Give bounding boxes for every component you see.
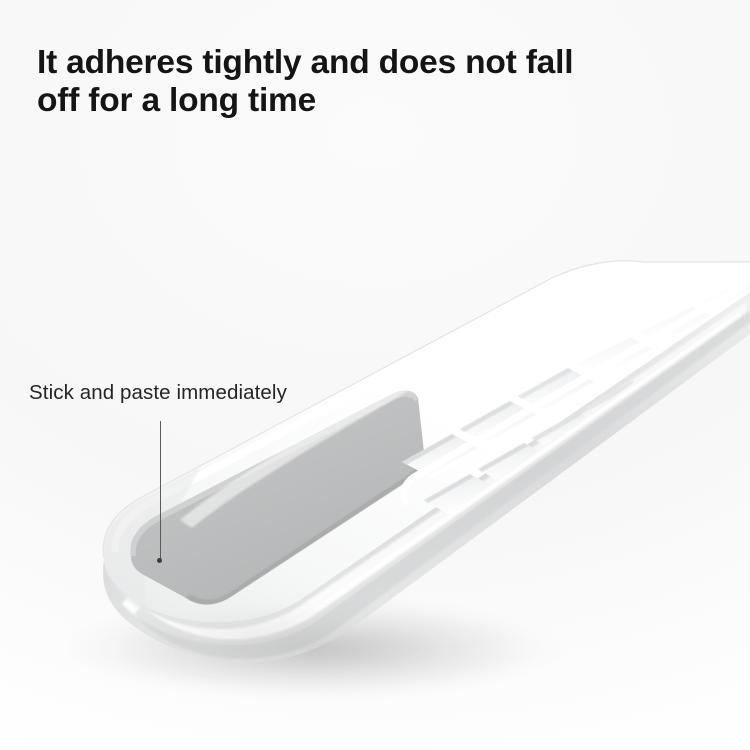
page-title: It adheres tightly and does not fall off…	[37, 44, 657, 120]
callout-label: Stick and paste immediately	[29, 380, 287, 406]
callout-leader-line	[160, 421, 161, 561]
product-marketing-image: It adheres tightly and does not fall off…	[0, 0, 750, 750]
callout-marker-dot	[157, 558, 162, 563]
